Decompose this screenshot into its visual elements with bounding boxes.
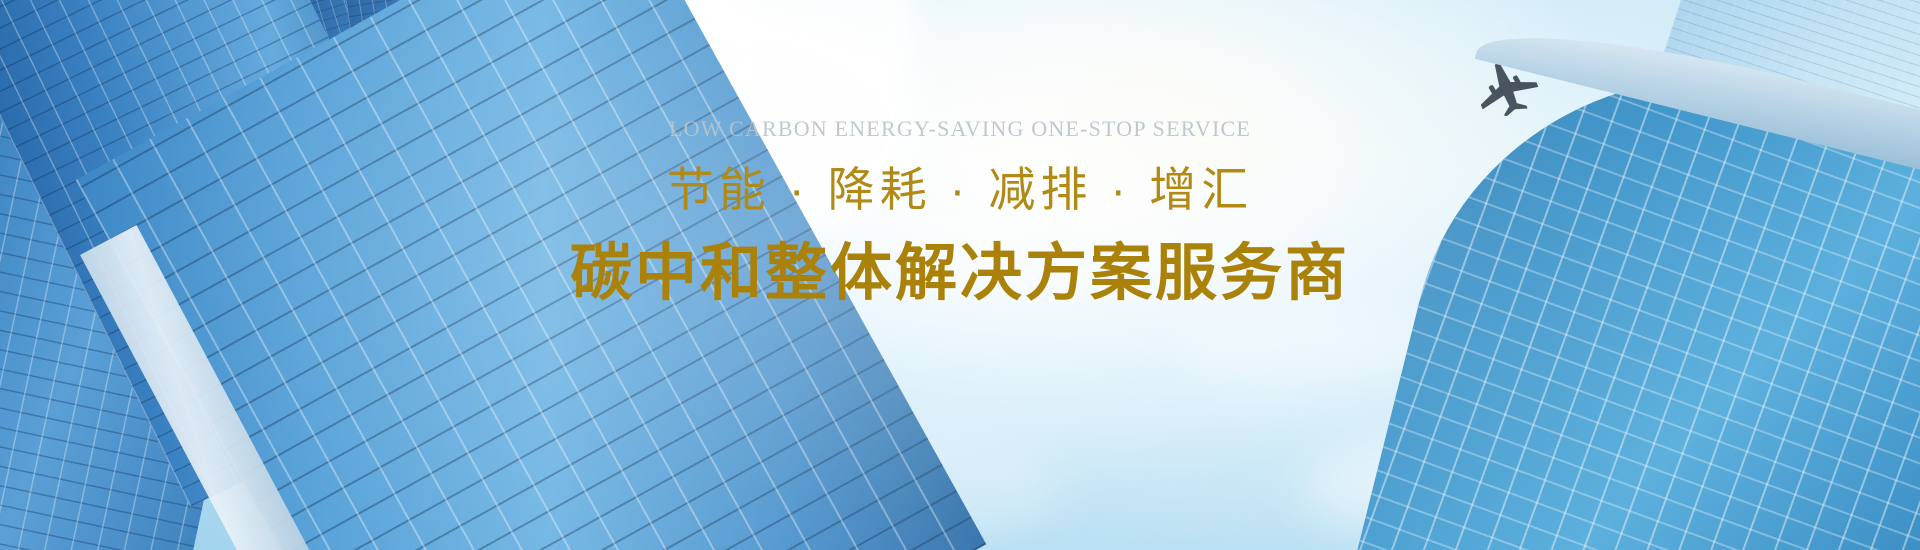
hero-banner: LOW CARBON ENERGY-SAVING ONE-STOP SERVIC… [0,0,1920,550]
hero-text-block: LOW CARBON ENERGY-SAVING ONE-STOP SERVIC… [0,118,1920,306]
subtitle-line: 节能 · 降耗 · 减排 · 增汇 [0,166,1920,213]
headline: 碳中和整体解决方案服务商 [0,241,1920,306]
eyebrow-tagline: LOW CARBON ENERGY-SAVING ONE-STOP SERVIC… [0,118,1920,140]
